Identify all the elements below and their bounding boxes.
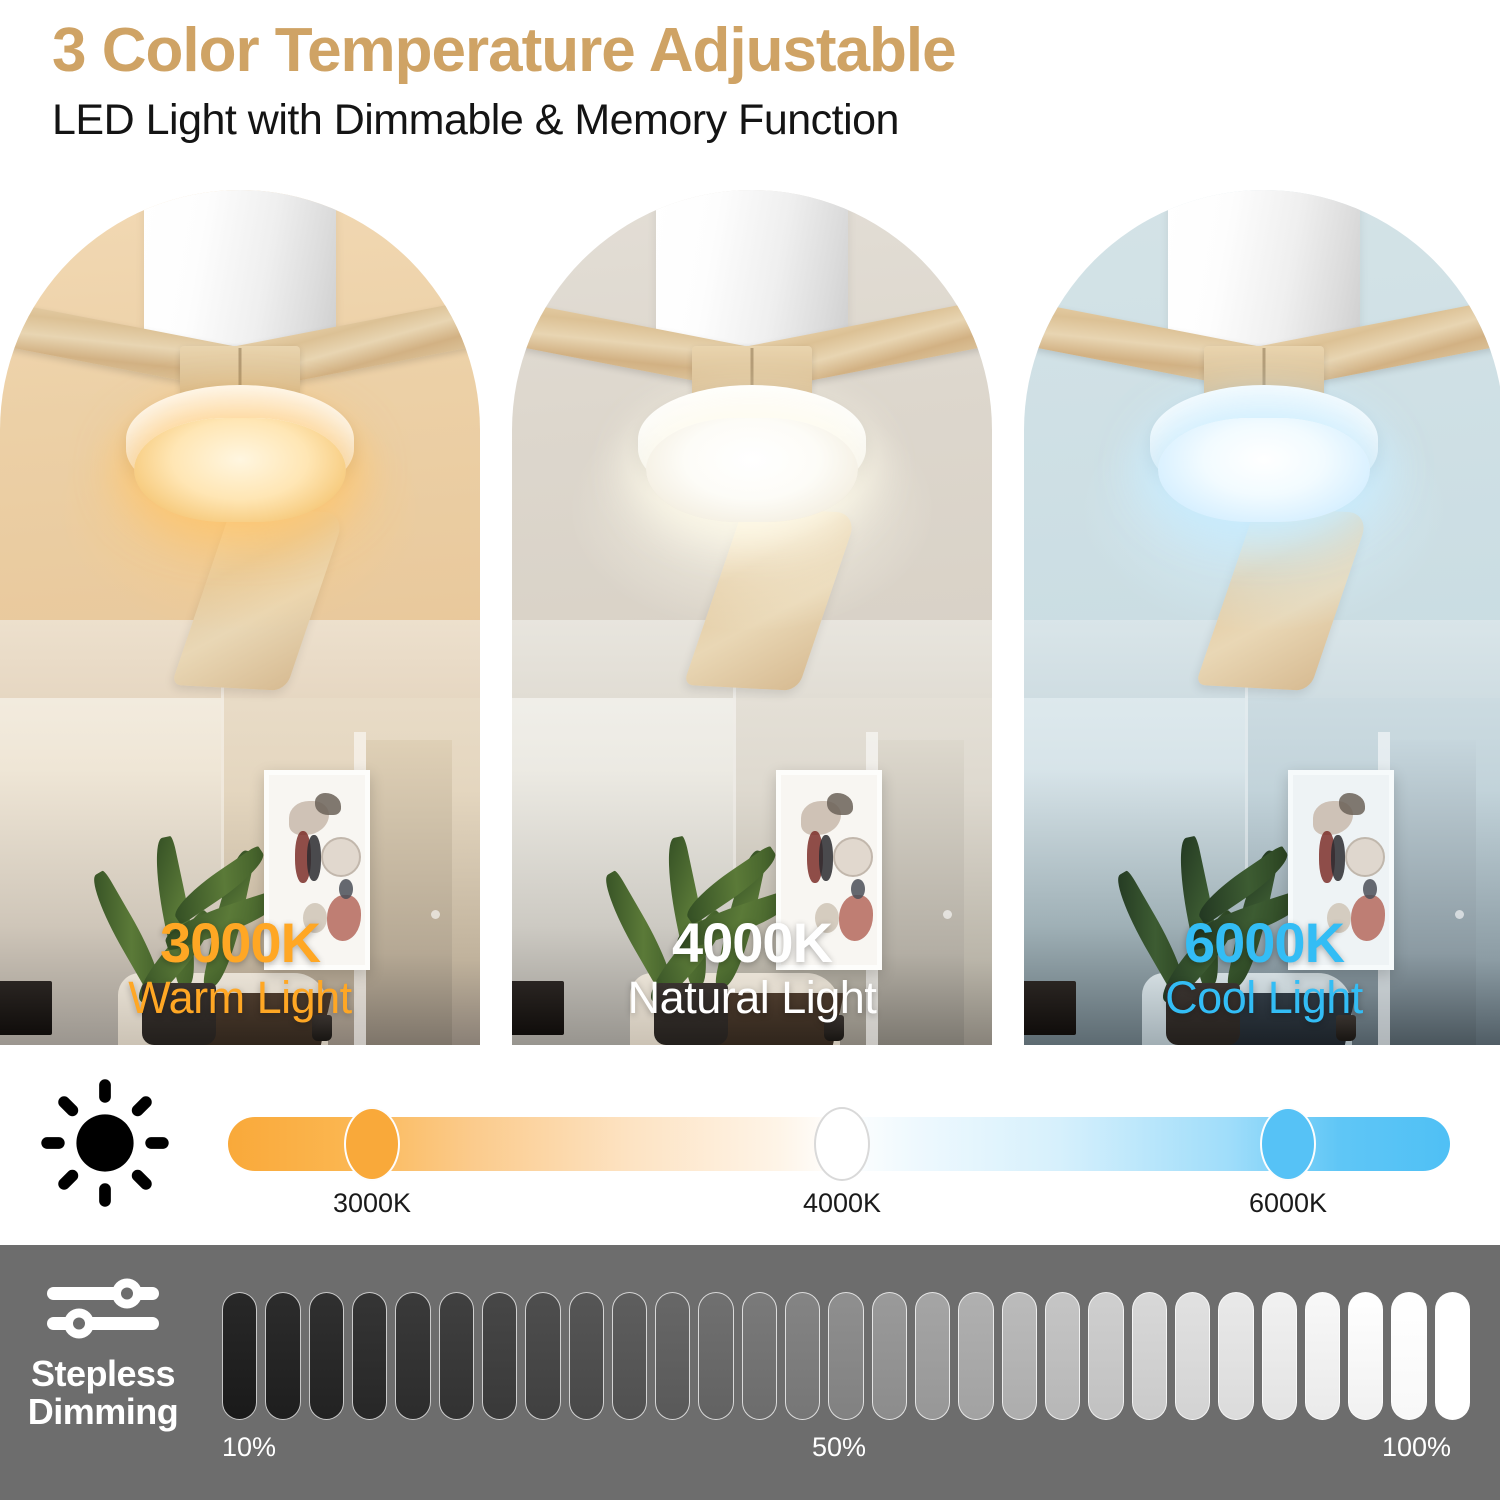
- ceiling-fan: [0, 190, 480, 750]
- temperature-label-4000k: 4000K: [752, 1188, 932, 1219]
- artwork-shape: [1363, 879, 1377, 899]
- dimming-bar[interactable]: [1305, 1292, 1340, 1420]
- dimming-bar[interactable]: [1218, 1292, 1253, 1420]
- dimming-bar[interactable]: [1262, 1292, 1297, 1420]
- artwork-shape: [819, 835, 833, 881]
- temperature-label-6000k: 6000K: [1198, 1188, 1378, 1219]
- temperature-knob-4000k[interactable]: [814, 1107, 870, 1181]
- fan-motor-housing: [144, 190, 336, 352]
- dimming-bar[interactable]: [525, 1292, 560, 1420]
- light-name: Warm Light: [0, 973, 480, 1023]
- light-name: Natural Light: [512, 973, 992, 1023]
- header: 3 Color Temperature Adjustable LED Light…: [0, 0, 1500, 149]
- artwork-shape: [315, 793, 341, 815]
- fan-blade-front: [1195, 507, 1369, 691]
- dimming-bar[interactable]: [915, 1292, 950, 1420]
- dimming-bar[interactable]: [785, 1292, 820, 1420]
- dimming-bar-scale[interactable]: [222, 1292, 1470, 1420]
- dimming-bar[interactable]: [1045, 1292, 1080, 1420]
- panel-caption: 3000K Warm Light: [0, 915, 480, 1023]
- dimming-bar[interactable]: [222, 1292, 257, 1420]
- fan-motor-housing: [656, 190, 848, 352]
- dimming-bar[interactable]: [612, 1292, 647, 1420]
- fan-motor-housing: [1168, 190, 1360, 352]
- artwork-shape: [827, 793, 853, 815]
- ceiling-fan: [1024, 190, 1500, 750]
- page-title: 3 Color Temperature Adjustable: [52, 18, 1500, 83]
- dimming-bar[interactable]: [1175, 1292, 1210, 1420]
- artwork-shape: [1331, 835, 1345, 881]
- dimming-bar[interactable]: [352, 1292, 387, 1420]
- dimming-bar[interactable]: [1348, 1292, 1383, 1420]
- fan-blade-front: [683, 507, 857, 691]
- panel-caption: 4000K Natural Light: [512, 915, 992, 1023]
- dimming-bar[interactable]: [265, 1292, 300, 1420]
- dimming-label-group: Stepless Dimming: [0, 1275, 206, 1431]
- artwork-shape: [321, 837, 361, 877]
- fan-blade-front: [171, 507, 345, 691]
- panel-caption: 6000K Cool Light: [1024, 915, 1500, 1023]
- dimming-bar[interactable]: [395, 1292, 430, 1420]
- kelvin-value: 6000K: [1024, 915, 1500, 971]
- led-light-dome: [134, 418, 346, 522]
- dimming-title-line1: Stepless: [0, 1355, 206, 1393]
- dimming-bar[interactable]: [698, 1292, 733, 1420]
- artwork-shape: [1339, 793, 1365, 815]
- ceiling-fan: [512, 190, 992, 750]
- panel-warm-light[interactable]: 3000K Warm Light: [0, 190, 480, 1045]
- sliders-icon: [43, 1275, 163, 1341]
- dimming-bar[interactable]: [309, 1292, 344, 1420]
- page-subtitle: LED Light with Dimmable & Memory Functio…: [52, 91, 1500, 149]
- sun-icon: [40, 1078, 170, 1208]
- panel-natural-light[interactable]: 4000K Natural Light: [512, 190, 992, 1045]
- kelvin-value: 4000K: [512, 915, 992, 971]
- dimming-bar[interactable]: [569, 1292, 604, 1420]
- kelvin-value: 3000K: [0, 915, 480, 971]
- dimming-bar[interactable]: [872, 1292, 907, 1420]
- dimming-title-line2: Dimming: [0, 1393, 206, 1431]
- artwork-shape: [339, 879, 353, 899]
- dimming-bar[interactable]: [655, 1292, 690, 1420]
- dimming-bar[interactable]: [1435, 1292, 1470, 1420]
- artwork-shape: [1345, 837, 1385, 877]
- dimming-bar[interactable]: [742, 1292, 777, 1420]
- dimming-bar[interactable]: [958, 1292, 993, 1420]
- dimming-bar[interactable]: [1391, 1292, 1426, 1420]
- dimming-bar[interactable]: [482, 1292, 517, 1420]
- temperature-knob-6000k[interactable]: [1260, 1107, 1316, 1181]
- led-light-dome: [1158, 418, 1370, 522]
- dimming-bar[interactable]: [1132, 1292, 1167, 1420]
- dimming-label-10: 10%: [222, 1432, 276, 1463]
- dimming-label-100: 100%: [1382, 1432, 1451, 1463]
- temperature-label-3000k: 3000K: [282, 1188, 462, 1219]
- led-light-dome: [646, 418, 858, 522]
- artwork-shape: [307, 835, 321, 881]
- artwork-shape: [851, 879, 865, 899]
- panel-cool-light[interactable]: 6000K Cool Light: [1024, 190, 1500, 1045]
- dimming-bar[interactable]: [439, 1292, 474, 1420]
- artwork-shape: [833, 837, 873, 877]
- dimming-label-50: 50%: [812, 1432, 866, 1463]
- temperature-knob-3000k[interactable]: [344, 1107, 400, 1181]
- dimming-bar[interactable]: [828, 1292, 863, 1420]
- light-name: Cool Light: [1024, 973, 1500, 1023]
- dimming-bar[interactable]: [1002, 1292, 1037, 1420]
- color-temperature-panels: 3000K Warm Light: [0, 190, 1500, 1045]
- dimming-bar[interactable]: [1088, 1292, 1123, 1420]
